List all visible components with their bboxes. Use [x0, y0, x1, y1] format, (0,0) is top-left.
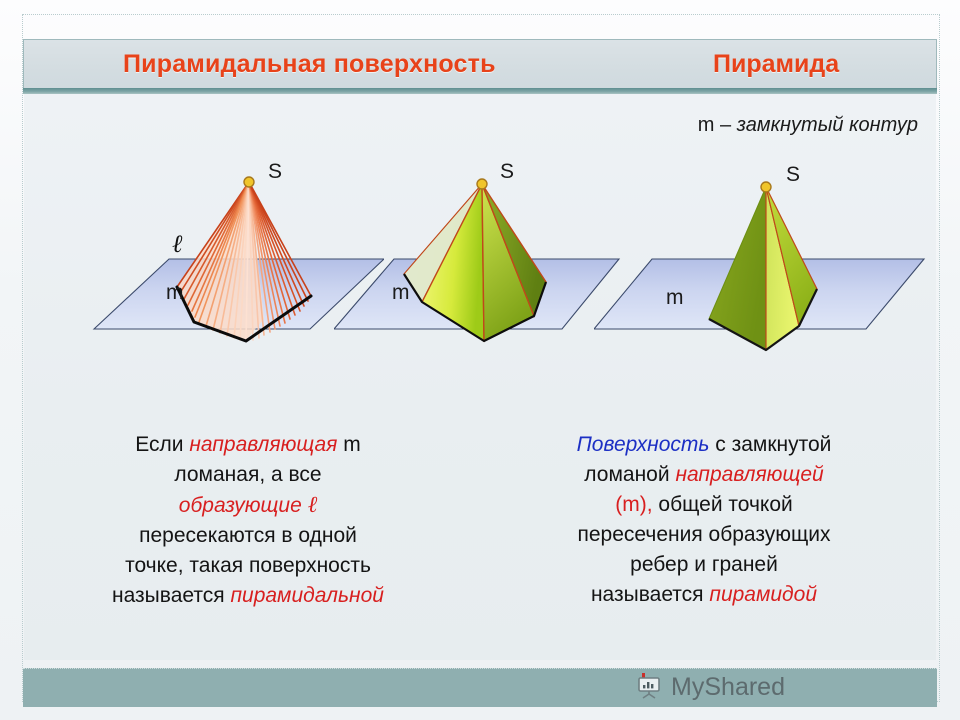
apex-label: S [786, 163, 800, 186]
note-prefix: m – [698, 114, 737, 136]
caption-left-line-4: пересекаются в одной [38, 521, 458, 551]
pyramid-wide-svg: S m [334, 154, 624, 424]
figure-pyramid-narrow: S m [594, 154, 936, 424]
note-closed-contour: m – замкнутый контур [24, 114, 936, 137]
page-title-left: Пирамидальная поверхность [123, 39, 496, 89]
directrix-label: m [392, 281, 410, 304]
directrix-label: m [166, 281, 184, 304]
apex-label: S [268, 160, 282, 183]
page-title-right: Пирамида [713, 39, 839, 89]
note-emphasis: замкнутый контур [737, 114, 918, 136]
captions-row: Если направляющая m ломаная, а все образ… [24, 430, 936, 655]
caption-right-line-1: Поверхность с замкнутой [494, 430, 914, 460]
caption-right-l3-red: (m), [615, 493, 652, 516]
caption-right-l3b: общей точкой [653, 493, 793, 516]
apex-dot [244, 177, 254, 187]
caption-left-line-6: называется пирамидальной [38, 581, 458, 611]
caption-left-l6-red: пирамидальной [230, 584, 384, 607]
caption-left-l3-ell: ℓ [308, 492, 318, 517]
caption-right-line-4: пересечения образующих [494, 520, 914, 550]
generatrix-label: ℓ [172, 231, 183, 258]
caption-right-l6-red: пирамидой [709, 583, 817, 606]
watermark: MyShared [635, 670, 785, 704]
caption-left-l1a: Если [135, 433, 189, 456]
header-titles: Пирамидальная поверхность Пирамида [23, 39, 937, 89]
caption-right-l1-blue: Поверхность [577, 433, 710, 456]
apex-dot [761, 182, 771, 192]
caption-right-line-6: называется пирамидой [494, 580, 914, 610]
directrix-label: m [666, 286, 684, 309]
caption-left-l3-red: образующие [179, 494, 302, 517]
presentation-screen-icon [635, 672, 665, 702]
figures-row: S m ℓ [24, 154, 936, 424]
apex-dot [477, 179, 487, 189]
caption-right-line-5: ребер и граней [494, 550, 914, 580]
caption-left-line-3: образующие ℓ [38, 490, 458, 521]
caption-pyramid: Поверхность с замкнутой ломаной направля… [494, 430, 914, 610]
caption-right-l1b: с замкнутой [709, 433, 831, 456]
caption-right-line-2: ломаной направляющей [494, 460, 914, 490]
caption-left-l6a: называется [112, 584, 230, 607]
figure-pyramid-wide: S m [334, 154, 624, 424]
caption-left-line-1: Если направляющая m [38, 430, 458, 460]
caption-left-l1b: m [337, 433, 360, 456]
caption-left-l1-red: направляющая [189, 433, 337, 456]
caption-left-line-2: ломаная, а все [38, 460, 458, 490]
slide: Пирамидальная поверхность Пирамида m – з… [0, 0, 960, 720]
apex-label: S [500, 160, 514, 183]
watermark-label: MyShared [671, 673, 785, 702]
caption-right-l2a: ломаной [584, 463, 675, 486]
pyramid-narrow-svg: S m [594, 154, 936, 424]
caption-left-line-5: точке, такая поверхность [38, 551, 458, 581]
caption-pyramidal-surface: Если направляющая m ломаная, а все образ… [38, 430, 458, 611]
footer-bar [23, 668, 937, 707]
caption-right-line-3: (m), общей точкой [494, 490, 914, 520]
caption-right-l2-red: направляющей [675, 463, 823, 486]
caption-right-l6a: называется [591, 583, 709, 606]
content-area: m – замкнутый контур [24, 94, 936, 660]
